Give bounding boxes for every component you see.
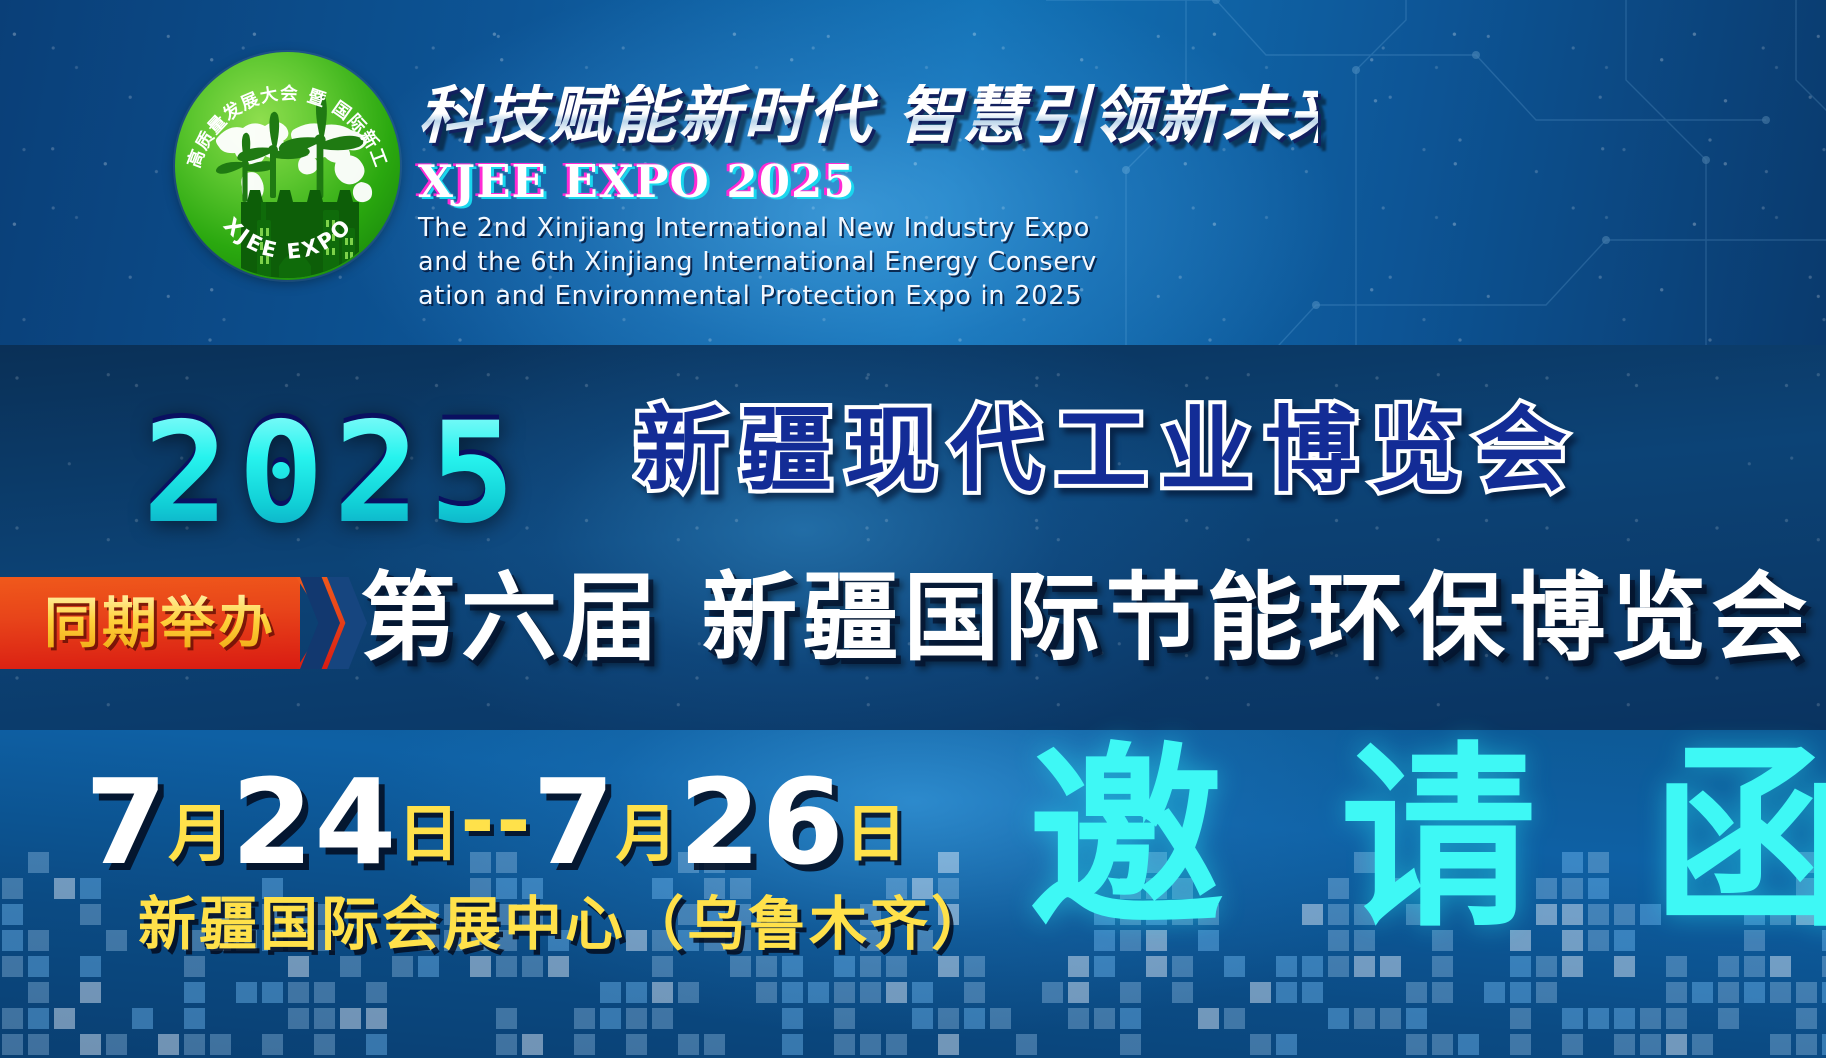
brand-title: XJEE EXPO 2025 <box>418 155 1318 208</box>
english-line-3: ation and Environmental Protection Expo … <box>418 280 1318 314</box>
ribbon-label: 同期举办 <box>44 592 276 654</box>
date-separator: -- <box>460 774 532 869</box>
english-line-1: The 2nd Xinjiang International New Indus… <box>418 212 1318 246</box>
header-text-column: 科技赋能新时代 智慧引领新未来 XJEE EXPO 2025 The 2nd X… <box>418 84 1318 314</box>
date-month-2: 7 <box>532 753 615 891</box>
date-day-2: 26 <box>679 753 845 891</box>
date-month-1: 7 <box>85 753 168 891</box>
event-slogan: 科技赋能新时代 智慧引领新未来 <box>418 84 1318 148</box>
secondary-expo-title: 第六届 新疆国际节能环保博览会 <box>360 568 1812 669</box>
date-day-1-unit: 日 <box>397 797 460 870</box>
invitation-headline: 邀 请 函 <box>1028 742 1826 938</box>
date-day-1: 24 <box>231 753 397 891</box>
year-display: 2025 <box>142 404 524 543</box>
globe-gear-windmill-icon: 新疆工业高质量发展大会 暨 国际新工业博览会 XJEE EXPO <box>175 52 400 280</box>
english-subtitle: The 2nd Xinjiang International New Indus… <box>418 212 1318 314</box>
english-line-2: and the 6th Xinjiang International Energ… <box>418 246 1318 280</box>
date-month-2-unit: 月 <box>616 797 679 870</box>
xjee-expo-logo: 新疆工业高质量发展大会 暨 国际新工业博览会 XJEE EXPO <box>175 52 400 280</box>
date-month-1-unit: 月 <box>168 797 231 870</box>
primary-expo-title: 新疆现代工业博览会 <box>635 405 1580 497</box>
date-day-2-unit: 日 <box>845 797 908 870</box>
event-venue: 新疆国际会展中心（乌鲁木齐） <box>138 895 992 953</box>
expo-invitation-poster: 新疆工业高质量发展大会 暨 国际新工业博览会 XJEE EXPO 科技赋能新时代… <box>0 0 1826 1058</box>
event-date: 7月24日--7月26日 <box>85 763 908 881</box>
